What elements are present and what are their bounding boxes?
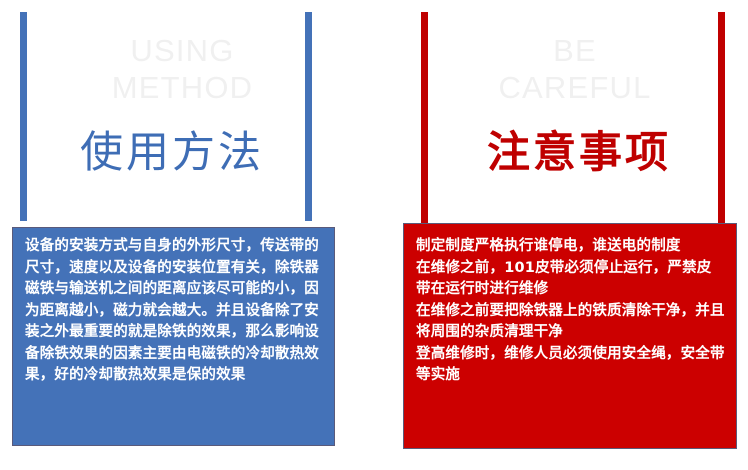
- bracket-bar-right-red: [718, 12, 725, 223]
- panel-title-using-method: 使用方法: [80, 127, 264, 179]
- panel-title-be-careful: 注意事项: [487, 127, 671, 179]
- bracket-bar-left-blue: [20, 12, 27, 221]
- bracket-bar-right-blue: [305, 12, 312, 221]
- watermark-using-method: USING METHOD: [95, 32, 270, 106]
- bracket-bar-left-red: [421, 12, 428, 223]
- slide-canvas: USING METHOD 使用方法 设备的安装方式与自身的外形尺寸，传送带的尺寸…: [0, 0, 748, 470]
- body-text-box-using-method: 设备的安装方式与自身的外形尺寸，传送带的尺寸，速度以及设备的安装位置有关，除铁器…: [12, 227, 335, 446]
- body-text-box-be-careful: 制定制度严格执行谁停电，谁送电的制度 在维修之前，101皮带必须停止运行，严禁皮…: [403, 223, 737, 449]
- panel-using-method: USING METHOD 使用方法 设备的安装方式与自身的外形尺寸，传送带的尺寸…: [0, 0, 374, 470]
- watermark-be-careful: BE CAREFUL: [485, 32, 665, 106]
